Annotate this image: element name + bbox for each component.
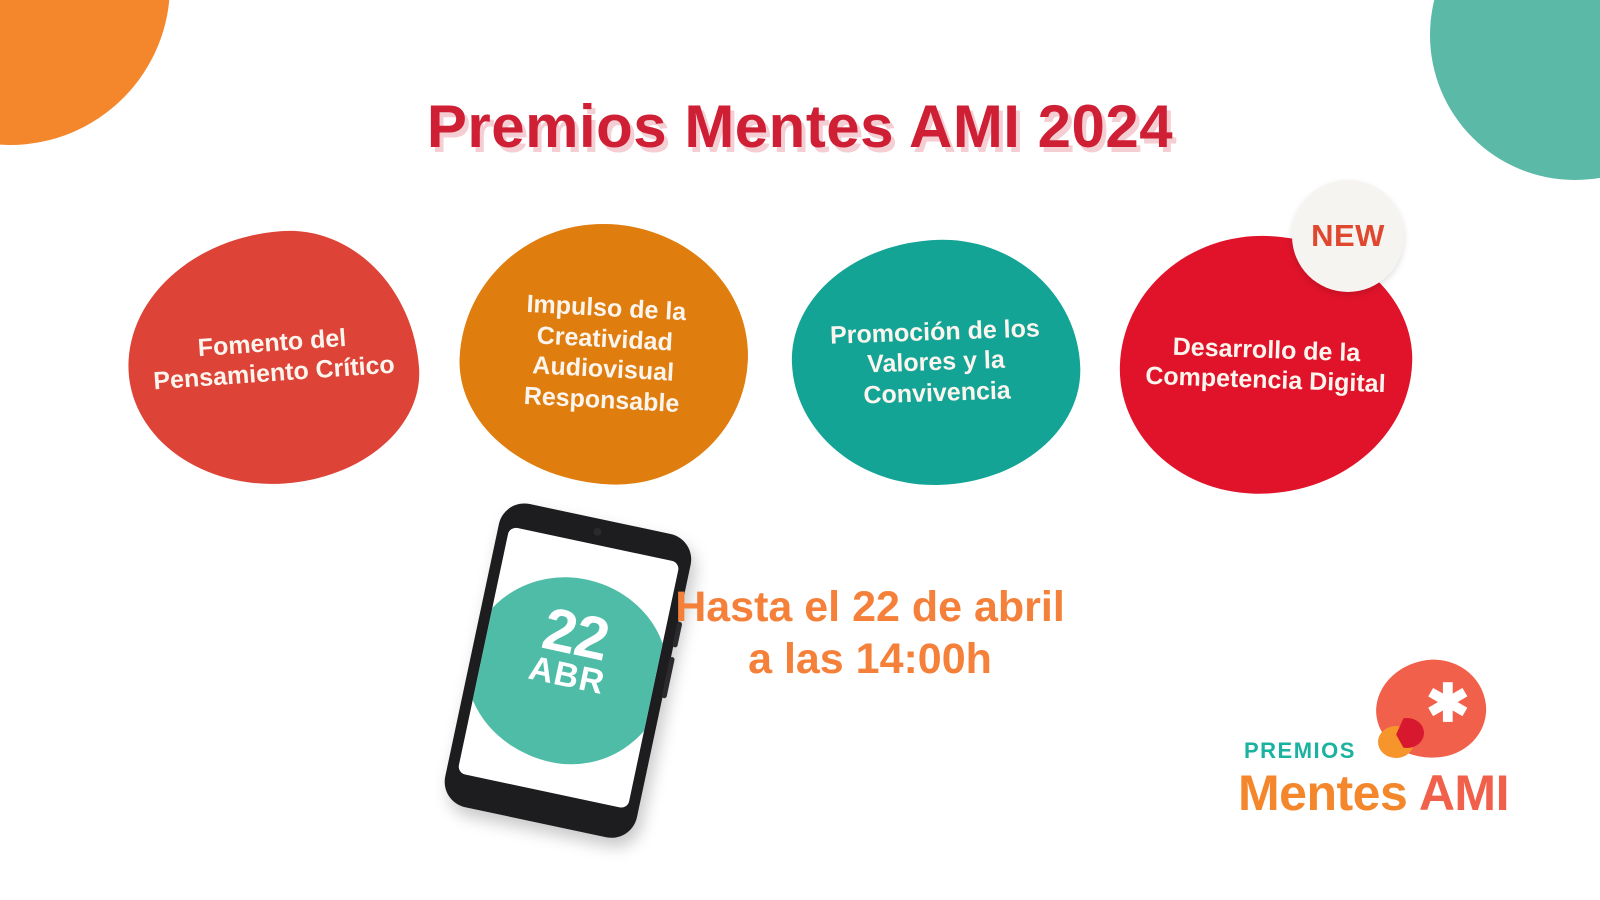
phone-camera-icon bbox=[593, 527, 602, 536]
logo-name-text: Mentes AMI bbox=[1238, 764, 1509, 822]
category-blob-pensamiento-critico: Fomento del Pensamiento Crítico bbox=[120, 222, 427, 494]
category-label: Impulso de la Creatividad Audiovisual Re… bbox=[473, 286, 735, 421]
category-label: Fomento del Pensamiento Crítico bbox=[142, 319, 404, 398]
deadline-line-2: a las 14:00h bbox=[620, 634, 1120, 686]
category-blob-valores-convivencia: Promoción de los Valores y la Convivenci… bbox=[788, 235, 1084, 490]
new-badge: NEW bbox=[1292, 180, 1404, 292]
brand-logo: ✱ PREMIOS Mentes AMI bbox=[1230, 660, 1520, 840]
logo-mentes-text: Mentes bbox=[1238, 765, 1419, 821]
page-title: Premios Mentes AMI 2024 bbox=[0, 92, 1600, 161]
category-blob-creatividad-audiovisual: Impulso de la Creatividad Audiovisual Re… bbox=[453, 217, 754, 492]
category-label: Desarrollo de la Competencia Digital bbox=[1135, 330, 1397, 400]
category-label: Promoción de los Valores y la Convivenci… bbox=[806, 312, 1065, 412]
asterisk-icon: ✱ bbox=[1426, 678, 1470, 730]
deadline-text: Hasta el 22 de abril a las 14:00h bbox=[620, 582, 1120, 685]
logo-premios-text: PREMIOS bbox=[1244, 738, 1356, 764]
deadline-line-1: Hasta el 22 de abril bbox=[675, 583, 1065, 631]
poster-canvas: Premios Mentes AMI 2024 Fomento del Pens… bbox=[0, 0, 1600, 900]
logo-ami-text: AMI bbox=[1419, 765, 1509, 821]
